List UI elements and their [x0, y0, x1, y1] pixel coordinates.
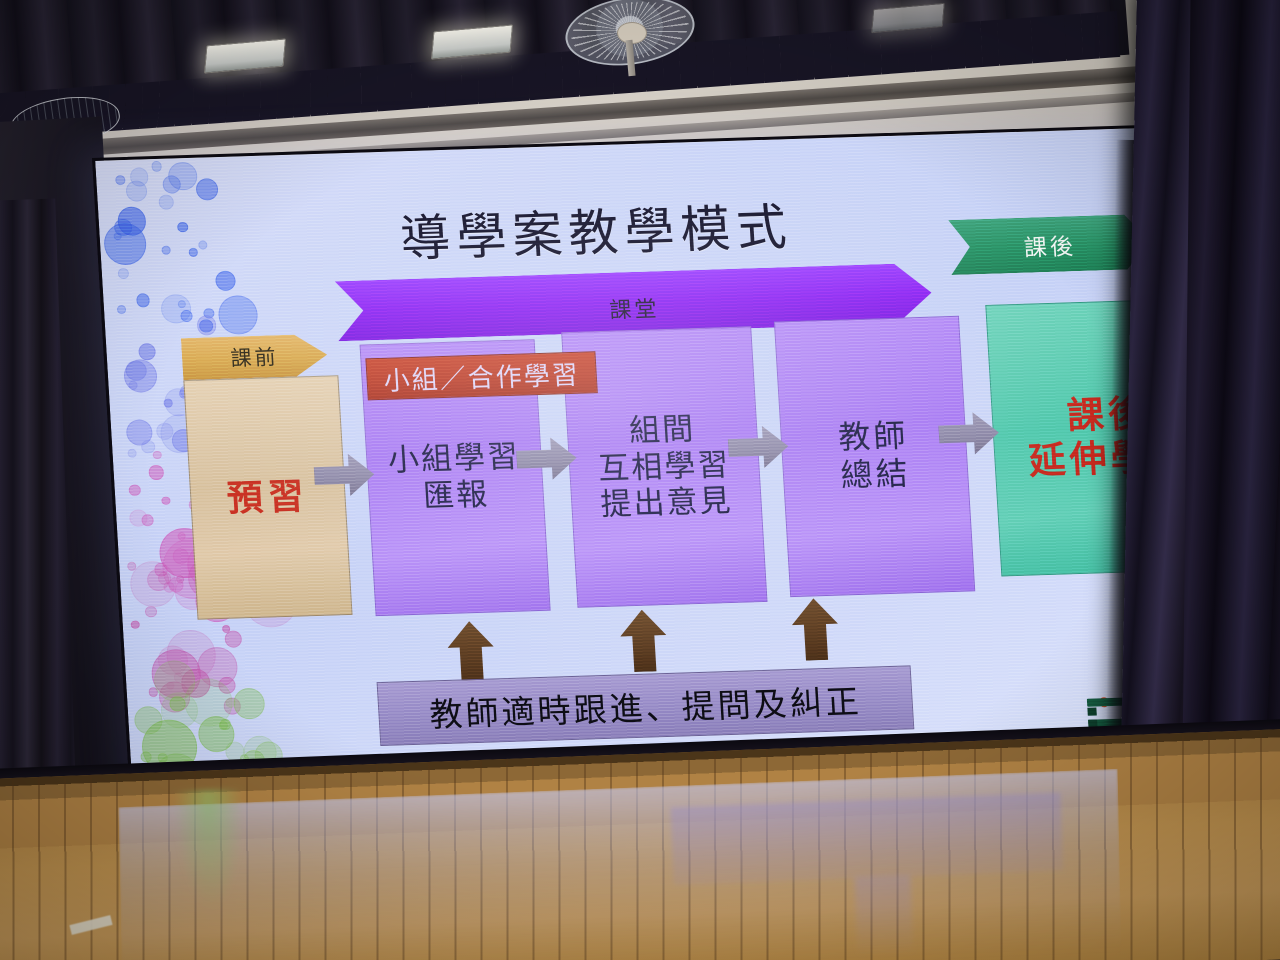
- stage-box-inter-group-learning-line-3: 提出意見: [599, 483, 733, 524]
- stage-box-inter-group-learning-line-1: 組間: [628, 411, 696, 450]
- stage-box-teacher-summary-line-2: 總結: [840, 455, 912, 495]
- up-arrow-icon: [446, 620, 496, 683]
- stage-box-preview-line-1: 預習: [226, 475, 311, 520]
- slide-title: 導學案教學模式: [398, 185, 862, 271]
- floor-reflection-green: [173, 789, 247, 911]
- up-arrow-icon: [790, 598, 840, 661]
- stage-box-group-study-report-line-2: 匯報: [422, 477, 490, 516]
- projection-screen: 導學案教學模式 課前 課堂 課後 預習 小組學習 匯報 組間 互相學習 提出意見…: [92, 123, 1231, 792]
- cooperative-learning-chip: 小組／合作學習: [365, 351, 597, 400]
- up-arrow-icon: [619, 609, 669, 672]
- stage-box-teacher-summary: 教師 總結: [774, 316, 975, 597]
- phase-banner-pre-class: 課前: [181, 334, 328, 380]
- floor-reflection-bar-stem: [854, 875, 913, 957]
- stage-box-teacher-summary-line-1: 教師: [837, 418, 909, 458]
- stage-box-inter-group-learning-line-2: 互相學習: [597, 447, 731, 488]
- ceiling-fan-icon: [565, 0, 695, 70]
- slide-canvas: 導學案教學模式 課前 課堂 課後 預習 小組學習 匯報 組間 互相學習 提出意見…: [95, 126, 1227, 789]
- stage-box-group-study-report-line-1: 小組學習: [387, 439, 521, 480]
- stage-box-preview: 預習: [183, 375, 352, 619]
- photo-scene: 導學案教學模式 課前 課堂 課後 預習 小組學習 匯報 組間 互相學習 提出意見…: [0, 0, 1280, 960]
- teacher-support-bar: 教師適時跟進、提問及糾正: [377, 665, 915, 746]
- floor-reflection-bar: [671, 793, 1064, 886]
